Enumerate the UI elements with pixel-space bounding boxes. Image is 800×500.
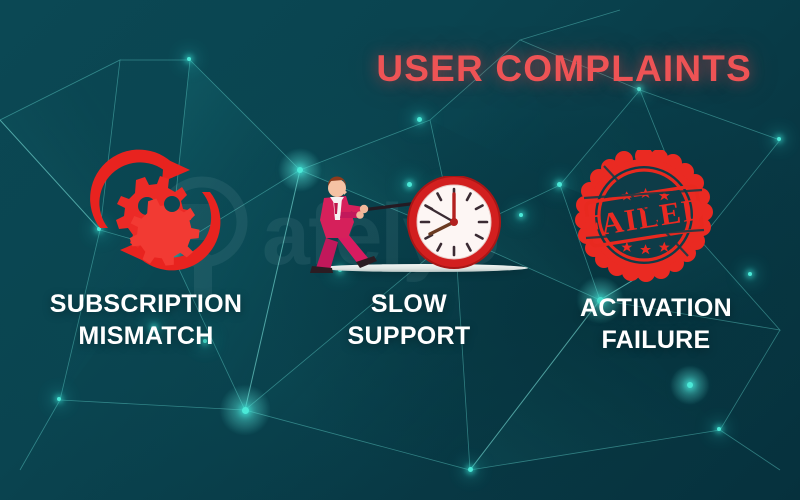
network-node bbox=[468, 467, 473, 472]
infographic-canvas: afelyo USER COMPLAINTS bbox=[0, 0, 800, 500]
man-pulling-clock-icon bbox=[300, 176, 530, 288]
network-node bbox=[242, 407, 249, 414]
failed-stamp-icon: FAILED bbox=[566, 150, 722, 282]
businessman-figure bbox=[310, 176, 377, 273]
sync-gears-icon bbox=[86, 136, 226, 284]
clock-icon bbox=[408, 176, 500, 268]
sidebar-item-activation-failure: ACTIVATION FAILURE bbox=[552, 292, 760, 356]
network-node bbox=[297, 167, 303, 173]
sidebar-item-slow-support: SLOW SUPPORT bbox=[312, 288, 506, 352]
network-node bbox=[717, 427, 721, 431]
network-node bbox=[777, 137, 781, 141]
network-node bbox=[57, 397, 61, 401]
sidebar-item-subscription-mismatch: SUBSCRIPTION MISMATCH bbox=[22, 288, 270, 352]
network-node bbox=[187, 57, 191, 61]
network-node bbox=[748, 272, 752, 276]
page-title: USER COMPLAINTS bbox=[376, 48, 752, 90]
network-node bbox=[417, 117, 422, 122]
network-node bbox=[687, 382, 693, 388]
network-node bbox=[557, 182, 562, 187]
